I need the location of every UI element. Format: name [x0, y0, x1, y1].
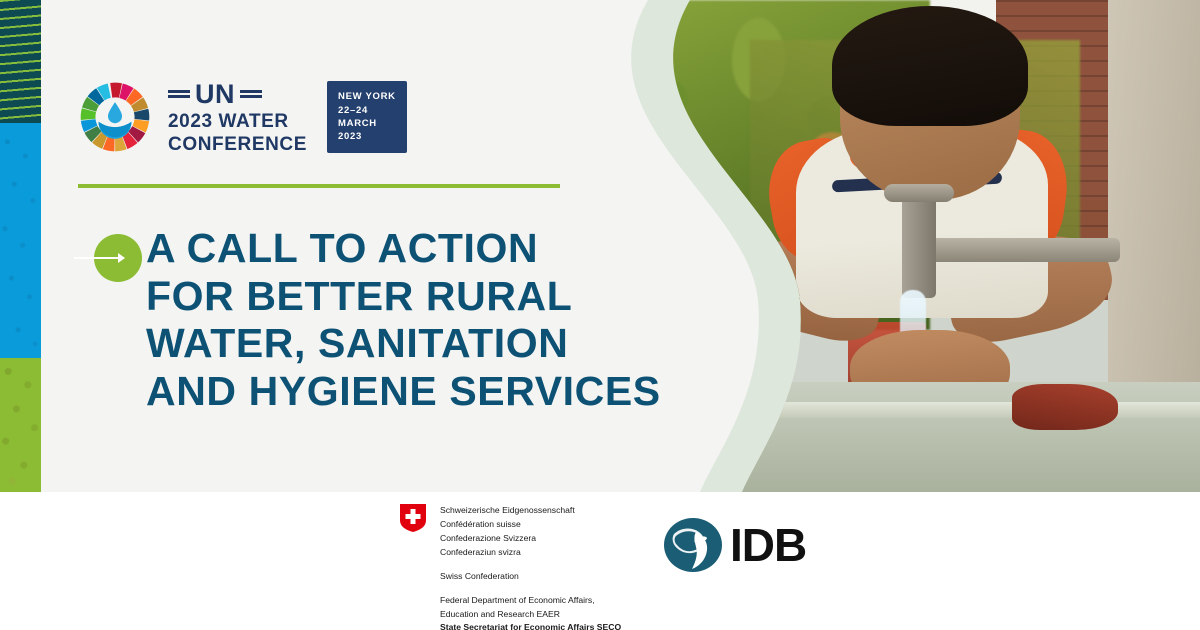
date-year: 2023	[338, 130, 396, 143]
swiss-spacer-2	[440, 584, 621, 594]
edge-color-bars	[0, 0, 41, 492]
page-title: A CALL TO ACTION FOR BETTER RURAL WATER,…	[146, 225, 706, 415]
main-band: UN 2023 WATER CONFERENCE NEW YORK 22–24 …	[0, 0, 1200, 492]
photo-tap-pipe	[930, 238, 1120, 262]
un-logo-line2: 2023 WATER	[168, 112, 307, 131]
swiss-dept-line2: Education and Research EAER	[440, 608, 621, 622]
poster-canvas: UN 2023 WATER CONFERENCE NEW YORK 22–24 …	[0, 0, 1200, 630]
idb-swoosh-icon	[662, 516, 724, 574]
swiss-spacer-1	[440, 560, 621, 570]
swiss-dept-line1: Federal Department of Economic Affairs,	[440, 594, 621, 608]
date-month: MARCH	[338, 117, 396, 130]
swiss-line-it: Confederazione Svizzera	[440, 532, 621, 546]
photo-boy-hair	[832, 6, 1028, 126]
photo-sandal-right	[1012, 384, 1118, 430]
idb-wordmark: IDB	[730, 522, 806, 568]
swiss-line-en: Swiss Confederation	[440, 570, 621, 584]
swiss-confederation-logo[interactable]: Schweizerische Eidgenossenschaft Confédé…	[400, 504, 621, 630]
un-wordmark: UN 2023 WATER CONFERENCE	[168, 81, 307, 154]
photo-tap-body	[902, 192, 936, 298]
un-dash-right-icon	[240, 90, 262, 98]
swiss-dept-line3: State Secretariat for Economic Affairs S…	[440, 621, 621, 630]
conference-date-badge: NEW YORK 22–24 MARCH 2023	[327, 81, 407, 153]
headline-line-1: A CALL TO ACTION	[146, 225, 706, 273]
date-days: 22–24	[338, 104, 396, 117]
photo-tap-handle	[884, 184, 954, 202]
swiss-line-rm: Confederaziun svizra	[440, 546, 621, 560]
bullet-arrow-head	[118, 253, 125, 263]
swiss-logo-text: Schweizerische Eidgenossenschaft Confédé…	[440, 504, 621, 630]
bullet-arrow-line	[74, 257, 124, 259]
date-city: NEW YORK	[338, 90, 396, 103]
un-dash-left-icon	[168, 90, 190, 98]
footer-logo-bar: Schweizerische Eidgenossenschaft Confédé…	[0, 492, 1200, 630]
edge-bar-teal-striped	[0, 0, 41, 123]
swiss-line-fr: Confédération suisse	[440, 518, 621, 532]
un-logo-line3: CONFERENCE	[168, 135, 307, 154]
idb-logo[interactable]: IDB	[662, 516, 806, 574]
green-divider-rule	[78, 184, 560, 188]
headline-line-4: AND HYGIENE SERVICES	[146, 368, 706, 416]
headline-line-2: FOR BETTER RURAL	[146, 273, 706, 321]
un-word: UN	[195, 81, 235, 108]
swiss-line-de: Schweizerische Eidgenossenschaft	[440, 504, 621, 518]
edge-bar-green	[0, 358, 41, 492]
un-word-row: UN	[168, 81, 307, 108]
headline-line-3: WATER, SANITATION	[146, 320, 706, 368]
arrow-bullet-icon	[74, 234, 142, 282]
swiss-cross-shield-icon	[400, 504, 426, 532]
edge-bar-blue	[0, 123, 41, 358]
un-water-conference-logo[interactable]: UN 2023 WATER CONFERENCE NEW YORK 22–24 …	[76, 78, 407, 156]
sdg-wheel-icon	[76, 78, 154, 156]
